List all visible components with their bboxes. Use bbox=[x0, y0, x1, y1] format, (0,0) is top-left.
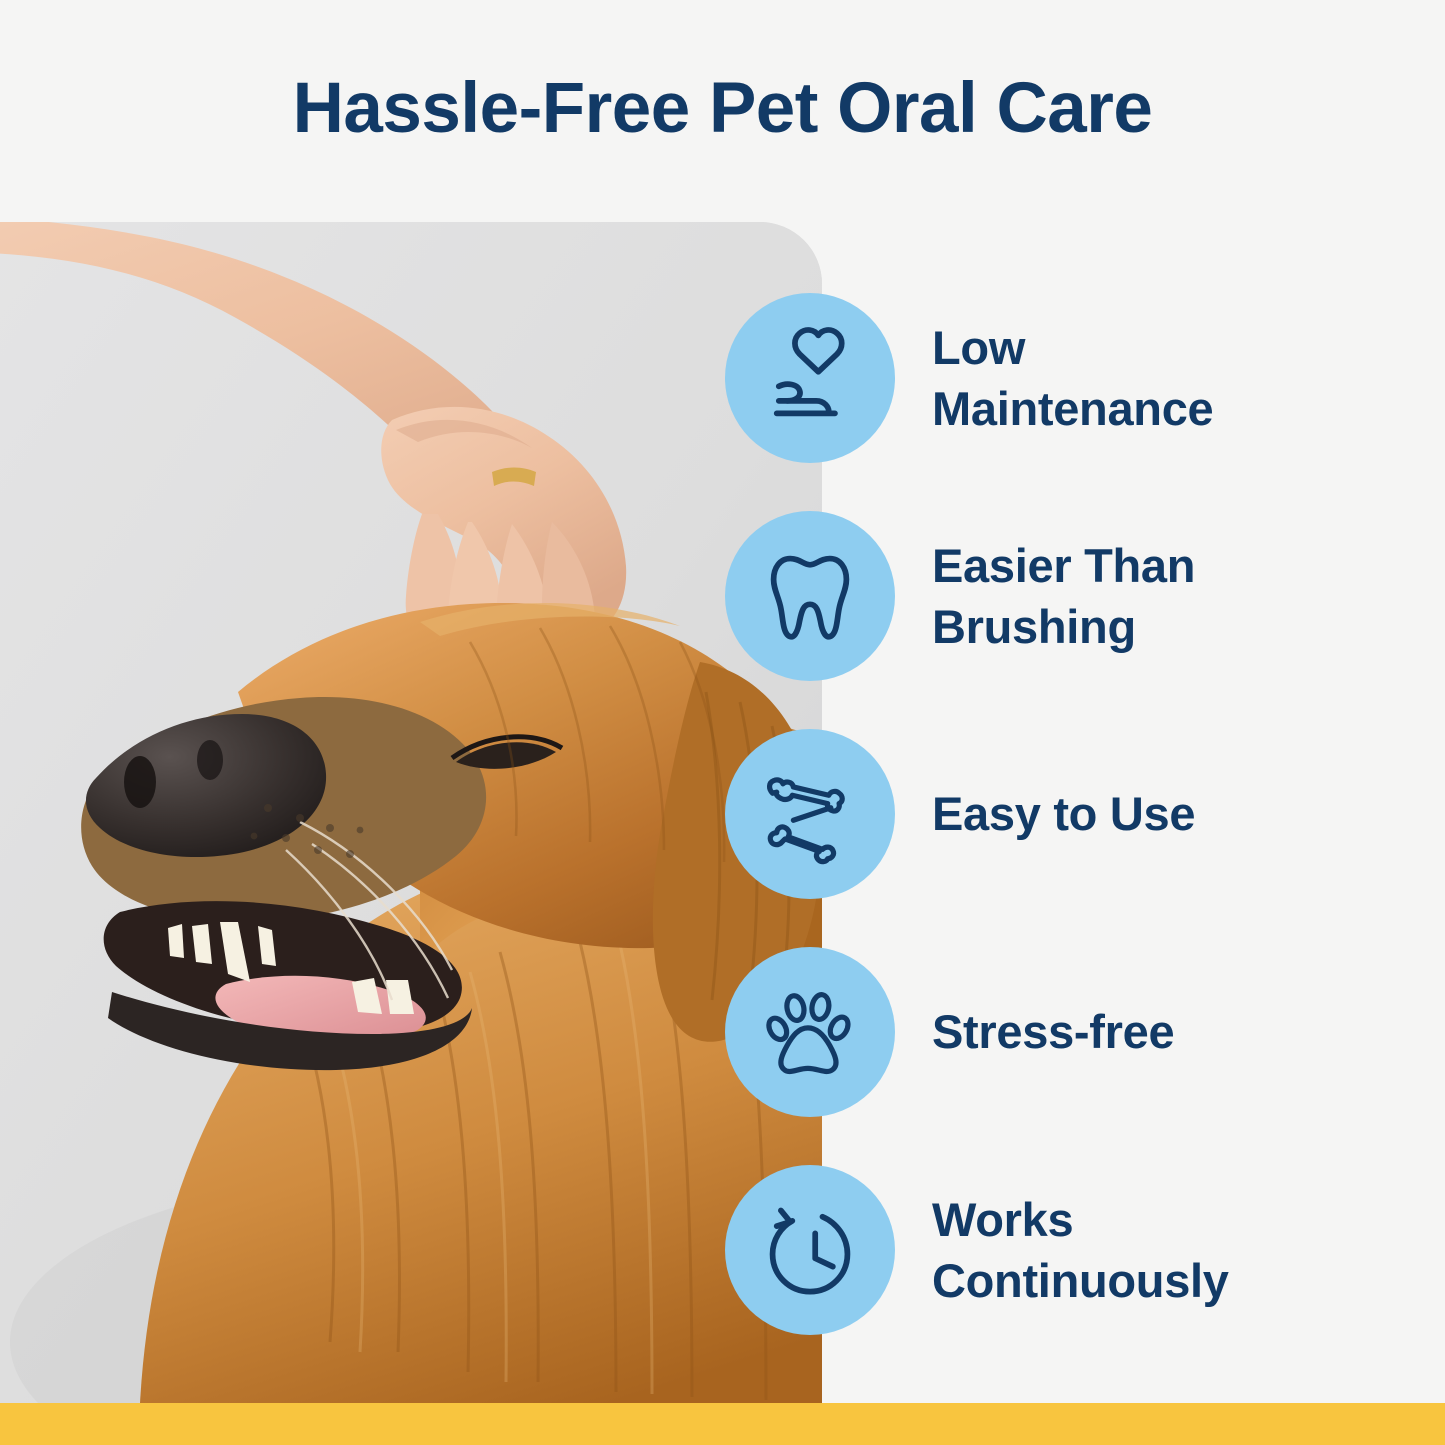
clock-arrow-icon bbox=[758, 1198, 862, 1302]
feature-icon-badge bbox=[725, 293, 895, 463]
feature-item: Stress-free bbox=[725, 947, 1445, 1165]
tooth-icon bbox=[758, 544, 862, 648]
feature-label: Easier Than Brushing bbox=[932, 511, 1432, 681]
paw-print-icon bbox=[758, 980, 862, 1084]
feature-icon-badge bbox=[725, 1165, 895, 1335]
feature-label: Works Continuously bbox=[932, 1165, 1432, 1335]
feature-list: Low Maintenance Easier Than Brushing Eas… bbox=[725, 293, 1445, 1383]
feature-label: Easy to Use bbox=[932, 729, 1432, 899]
crossed-bones-icon bbox=[758, 762, 862, 866]
feature-label: Stress-free bbox=[932, 947, 1432, 1117]
page-title: Hassle-Free Pet Oral Care bbox=[293, 73, 1153, 150]
feature-item: Easy to Use bbox=[725, 729, 1445, 947]
feature-item: Works Continuously bbox=[725, 1165, 1445, 1383]
product-photo bbox=[0, 222, 822, 1403]
feature-icon-badge bbox=[725, 947, 895, 1117]
feature-icon-badge bbox=[725, 511, 895, 681]
feature-item: Low Maintenance bbox=[725, 293, 1445, 511]
bottom-accent-bar bbox=[0, 1403, 1445, 1445]
feature-label: Low Maintenance bbox=[932, 293, 1432, 463]
title-bar: Hassle-Free Pet Oral Care bbox=[0, 0, 1445, 222]
feature-icon-badge bbox=[725, 729, 895, 899]
feature-item: Easier Than Brushing bbox=[725, 511, 1445, 729]
hand-holding-heart-icon bbox=[758, 326, 862, 430]
dog-photo-illustration bbox=[0, 222, 822, 1403]
promo-poster: Hassle-Free Pet Oral Care bbox=[0, 0, 1445, 1445]
